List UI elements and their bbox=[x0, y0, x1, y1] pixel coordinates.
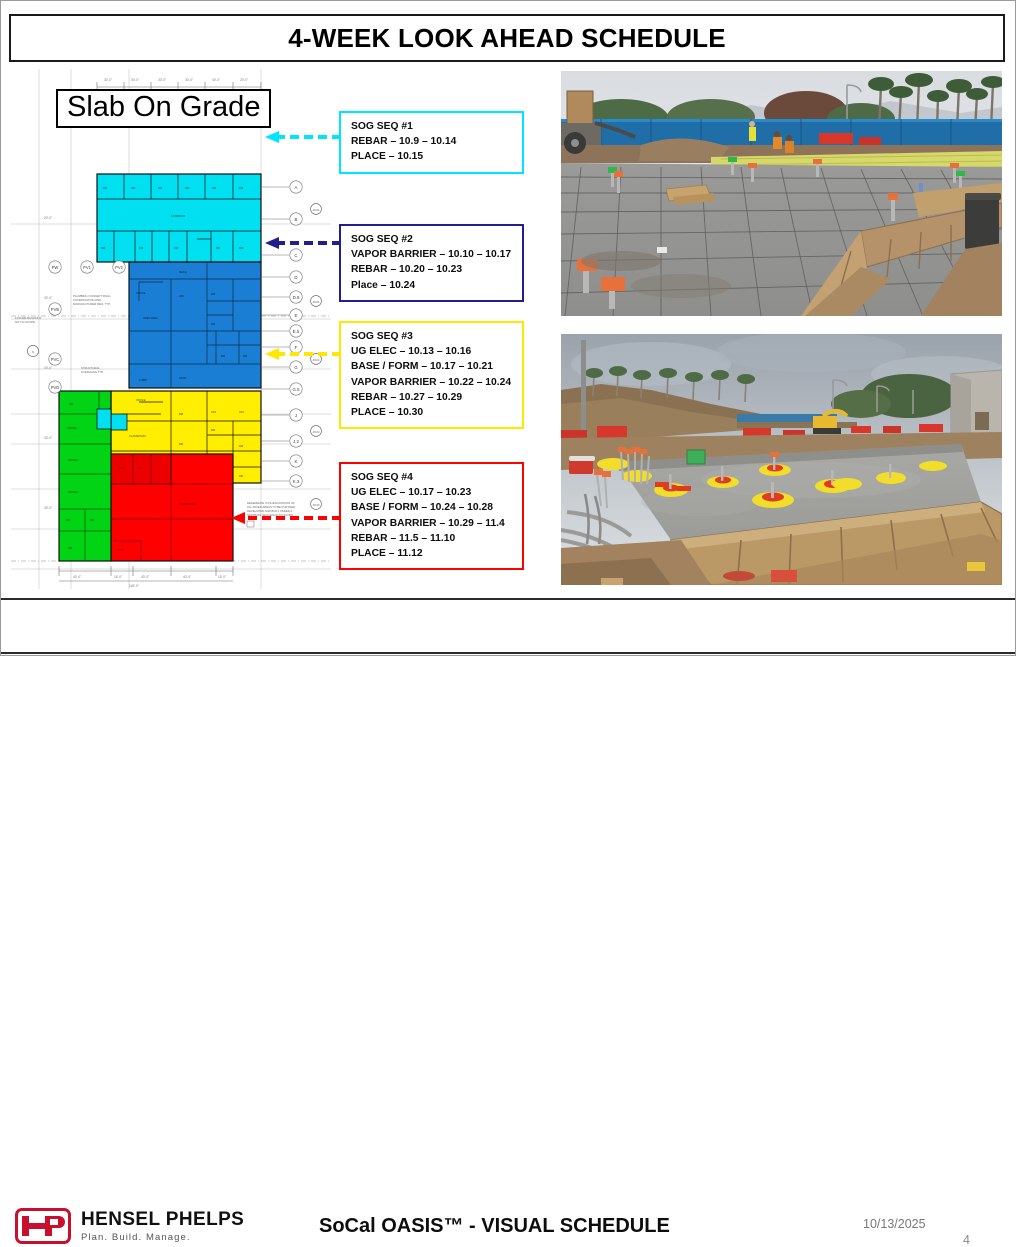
svg-text:RM: RM bbox=[90, 518, 94, 522]
svg-text:J: J bbox=[295, 413, 297, 418]
callout-sog-seq-4: SOG SEQ #4 UG ELEC – 10.17 – 10.23 BASE … bbox=[339, 462, 524, 570]
svg-text:RM: RM bbox=[68, 546, 72, 550]
logo-tagline: Plan. Build. Manage. bbox=[81, 1233, 244, 1243]
svg-text:J.2: J.2 bbox=[293, 439, 299, 444]
svg-text:OFFICE: OFFICE bbox=[68, 458, 78, 462]
svg-text:N: N bbox=[32, 350, 34, 354]
svg-text:RM: RM bbox=[212, 186, 216, 190]
hensel-phelps-hp-monogram-icon bbox=[15, 1208, 71, 1244]
svg-text:RM: RM bbox=[239, 444, 243, 448]
plan-zone-seq1: RMRMRM RMRMRM CORRIDOR RMRMRM RMRM bbox=[97, 174, 261, 262]
svg-text:D.8: D.8 bbox=[293, 295, 300, 300]
svg-text:B: B bbox=[295, 217, 298, 222]
svg-text:RM: RM bbox=[139, 246, 143, 250]
svg-text:RM: RM bbox=[239, 474, 243, 478]
svg-text:RM: RM bbox=[239, 186, 243, 190]
svg-text:OPEN AREA: OPEN AREA bbox=[143, 316, 158, 320]
callout-line: SOG SEQ #1 bbox=[351, 119, 514, 134]
callout-line: Place – 10.24 bbox=[351, 278, 514, 293]
callout-line: SOG SEQ #3 bbox=[351, 329, 514, 344]
arrow-seq3-icon bbox=[263, 346, 343, 362]
callout-line: VAPOR BARRIER – 10.22 – 10.24 bbox=[351, 375, 514, 390]
footer-title: SoCal OASIS™ - VISUAL SCHEDULE bbox=[319, 1215, 670, 1238]
svg-text:WAREHOUSE: WAREHOUSE bbox=[179, 502, 196, 506]
svg-text:RM: RM bbox=[131, 186, 135, 190]
svg-text:RM: RM bbox=[179, 412, 183, 416]
svg-text:PVB: PVB bbox=[51, 307, 60, 312]
svg-text:30'-0": 30'-0" bbox=[185, 78, 193, 82]
svg-text:A5.01: A5.01 bbox=[313, 300, 320, 304]
svg-text:OVERHANG TYP.: OVERHANG TYP. bbox=[81, 370, 104, 374]
svg-text:PV1: PV1 bbox=[83, 265, 92, 270]
svg-text:A5.03: A5.03 bbox=[313, 503, 320, 507]
svg-text:20'-0": 20'-0" bbox=[44, 216, 52, 220]
svg-text:RM: RM bbox=[211, 428, 215, 432]
photo-slab-poured bbox=[561, 334, 1002, 585]
svg-text:40'-0": 40'-0" bbox=[183, 575, 191, 579]
svg-text:RM: RM bbox=[66, 518, 70, 522]
svg-text:RM: RM bbox=[185, 186, 189, 190]
svg-text:RM: RM bbox=[179, 442, 183, 446]
callout-line: VAPOR BARRIER – 10.29 – 11.4 bbox=[351, 516, 514, 531]
svg-text:STOR: STOR bbox=[117, 548, 124, 552]
svg-text:30'-0": 30'-0" bbox=[44, 436, 52, 440]
callout-line: UG ELEC – 10.17 – 10.23 bbox=[351, 485, 514, 500]
footer-date: 10/13/2025 bbox=[863, 1217, 926, 1231]
svg-text:30'-0": 30'-0" bbox=[44, 296, 52, 300]
plan-zone-seq2: MECH OFFICE OFF RM RM OPEN AREA RM RM ST… bbox=[129, 262, 261, 388]
svg-text:RM: RM bbox=[69, 402, 73, 406]
svg-text:RM: RM bbox=[216, 246, 220, 250]
svg-text:C: C bbox=[294, 253, 297, 258]
svg-text:K.3: K.3 bbox=[293, 479, 300, 484]
svg-text:E.5: E.5 bbox=[293, 329, 300, 334]
svg-text:PVC: PVC bbox=[51, 357, 60, 362]
svg-text:RM: RM bbox=[221, 354, 225, 358]
slide-title-box: 4-WEEK LOOK AHEAD SCHEDULE bbox=[9, 14, 1005, 62]
callout-line: REBAR – 10.27 – 10.29 bbox=[351, 390, 514, 405]
svg-text:A5.01: A5.01 bbox=[313, 208, 320, 212]
svg-text:OFFICE: OFFICE bbox=[136, 398, 146, 402]
svg-text:PW: PW bbox=[52, 265, 59, 270]
svg-text:OFFICE: OFFICE bbox=[68, 490, 78, 494]
svg-text:20'-0": 20'-0" bbox=[240, 78, 248, 82]
svg-text:RM: RM bbox=[101, 246, 105, 250]
callout-line: PLACE – 10.30 bbox=[351, 405, 514, 420]
svg-text:15'-0": 15'-0" bbox=[218, 575, 226, 579]
svg-text:30'-0": 30'-0" bbox=[131, 78, 139, 82]
svg-text:RM: RM bbox=[243, 354, 247, 358]
callout-line: SOG SEQ #4 bbox=[351, 470, 514, 485]
callout-line: UG ELEC – 10.13 – 10.16 bbox=[351, 344, 514, 359]
svg-text:PV2: PV2 bbox=[115, 265, 124, 270]
svg-text:40'-0": 40'-0" bbox=[141, 575, 149, 579]
callout-line: PLACE – 10.15 bbox=[351, 149, 514, 164]
svg-text:RM: RM bbox=[138, 466, 142, 470]
plan-accent-cyan bbox=[111, 414, 127, 430]
svg-text:RM: RM bbox=[211, 292, 215, 296]
footer-divider-bottom bbox=[1, 652, 1015, 654]
svg-text:LOBBY: LOBBY bbox=[139, 378, 148, 382]
svg-text:G.5: G.5 bbox=[292, 387, 300, 392]
svg-text:30'-0": 30'-0" bbox=[212, 78, 220, 82]
svg-text:MECH: MECH bbox=[179, 270, 187, 274]
footer-page-number: 4 bbox=[963, 1233, 970, 1247]
callout-line: PLACE – 11.12 bbox=[351, 546, 514, 561]
callout-sog-seq-1: SOG SEQ #1 REBAR – 10.9 – 10.14 PLACE – … bbox=[339, 111, 524, 174]
callout-line: REBAR – 11.5 – 11.10 bbox=[351, 531, 514, 546]
svg-text:OFFICE: OFFICE bbox=[67, 426, 77, 430]
svg-text:16'-0": 16'-0" bbox=[114, 575, 122, 579]
svg-text:RM: RM bbox=[239, 246, 243, 250]
svg-text:A: A bbox=[295, 185, 298, 190]
svg-text:NOT IN SCOPE: NOT IN SCOPE bbox=[15, 320, 35, 324]
arrow-seq1-icon bbox=[263, 129, 343, 145]
svg-text:D: D bbox=[294, 275, 297, 280]
svg-text:OFF: OFF bbox=[179, 294, 185, 298]
svg-text:RM: RM bbox=[174, 246, 178, 250]
svg-text:30'-0": 30'-0" bbox=[158, 78, 166, 82]
svg-text:K: K bbox=[295, 459, 298, 464]
svg-text:STOR: STOR bbox=[179, 376, 186, 380]
svg-text:RM: RM bbox=[103, 186, 107, 190]
svg-text:OFF: OFF bbox=[211, 410, 217, 414]
callout-line: SOG SEQ #2 bbox=[351, 232, 514, 247]
svg-text:CORRIDOR: CORRIDOR bbox=[171, 214, 185, 218]
svg-text:A5.02: A5.02 bbox=[313, 430, 320, 434]
svg-text:OFF: OFF bbox=[239, 410, 245, 414]
page-title: 4-WEEK LOOK AHEAD SCHEDULE bbox=[288, 23, 726, 54]
company-logo: HENSEL PHELPS Plan. Build. Manage. bbox=[15, 1208, 244, 1244]
svg-text:145'-0": 145'-0" bbox=[129, 584, 139, 588]
callout-line: BASE / FORM – 10.17 – 10.21 bbox=[351, 359, 514, 374]
svg-text:CLASSROOM: CLASSROOM bbox=[129, 434, 146, 438]
svg-text:MANUFACTURER REQ. TYP.: MANUFACTURER REQ. TYP. bbox=[73, 302, 111, 306]
arrow-seq4-icon bbox=[229, 510, 343, 526]
svg-text:G: G bbox=[294, 365, 298, 370]
slab-on-grade-text: Slab On Grade bbox=[67, 91, 260, 123]
photo-slab-rebar bbox=[561, 71, 1002, 316]
slab-on-grade-label: Slab On Grade bbox=[56, 89, 271, 128]
footer: HENSEL PHELPS Plan. Build. Manage. SoCal… bbox=[1, 600, 1015, 655]
callout-line: VAPOR BARRIER – 10.10 – 10.17 bbox=[351, 247, 514, 262]
svg-text:RM: RM bbox=[211, 322, 215, 326]
callout-line: BASE / FORM – 10.24 – 10.28 bbox=[351, 500, 514, 515]
arrow-seq2-icon bbox=[263, 235, 343, 251]
logo-company-name: HENSEL PHELPS bbox=[81, 1210, 244, 1229]
plan-accent-cyan bbox=[97, 409, 111, 429]
plan-zone-green: RM OFFICE OFFICE OFFICE RMRM RM bbox=[59, 391, 111, 561]
svg-text:RM: RM bbox=[158, 186, 162, 190]
svg-text:30'-0": 30'-0" bbox=[44, 506, 52, 510]
svg-text:40'-0": 40'-0" bbox=[73, 575, 81, 579]
callout-line: REBAR – 10.9 – 10.14 bbox=[351, 134, 514, 149]
svg-text:OFFICE: OFFICE bbox=[136, 291, 146, 295]
svg-text:30'-0": 30'-0" bbox=[104, 78, 112, 82]
callout-sog-seq-3: SOG SEQ #3 UG ELEC – 10.13 – 10.16 BASE … bbox=[339, 321, 524, 429]
svg-text:30'-0": 30'-0" bbox=[44, 366, 52, 370]
slide: 4-WEEK LOOK AHEAD SCHEDULE bbox=[0, 0, 1016, 656]
plan-zone-seq4: RMRM WAREHOUSE STOR bbox=[111, 454, 233, 561]
callout-line: REBAR – 10.20 – 10.23 bbox=[351, 262, 514, 277]
svg-text:E: E bbox=[295, 313, 298, 318]
callout-sog-seq-2: SOG SEQ #2 VAPOR BARRIER – 10.10 – 10.17… bbox=[339, 224, 524, 302]
svg-text:RM: RM bbox=[119, 466, 123, 470]
svg-text:PVD: PVD bbox=[51, 385, 60, 390]
